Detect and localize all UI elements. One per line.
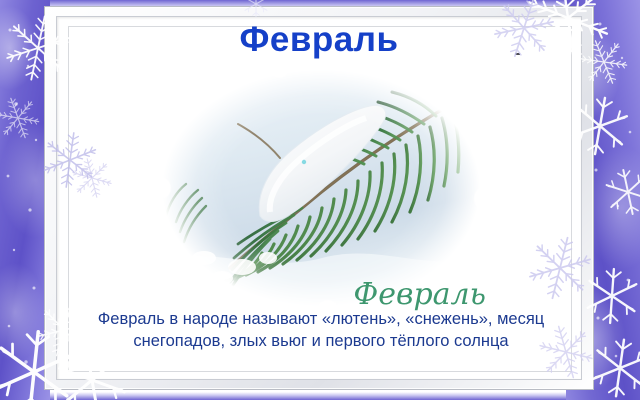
tick-mark-icon: [515, 53, 520, 55]
photo-spruce-branch: Февраль: [152, 62, 490, 314]
border-band-left: [0, 0, 50, 400]
slide-february: Февраль: [0, 0, 640, 400]
page-title: Февраль: [68, 22, 570, 59]
photo-watermark: Февраль: [353, 277, 486, 312]
caption-text: Февраль в народе называют «лютень», «сне…: [90, 308, 552, 353]
border-band-bottom: [0, 392, 640, 400]
